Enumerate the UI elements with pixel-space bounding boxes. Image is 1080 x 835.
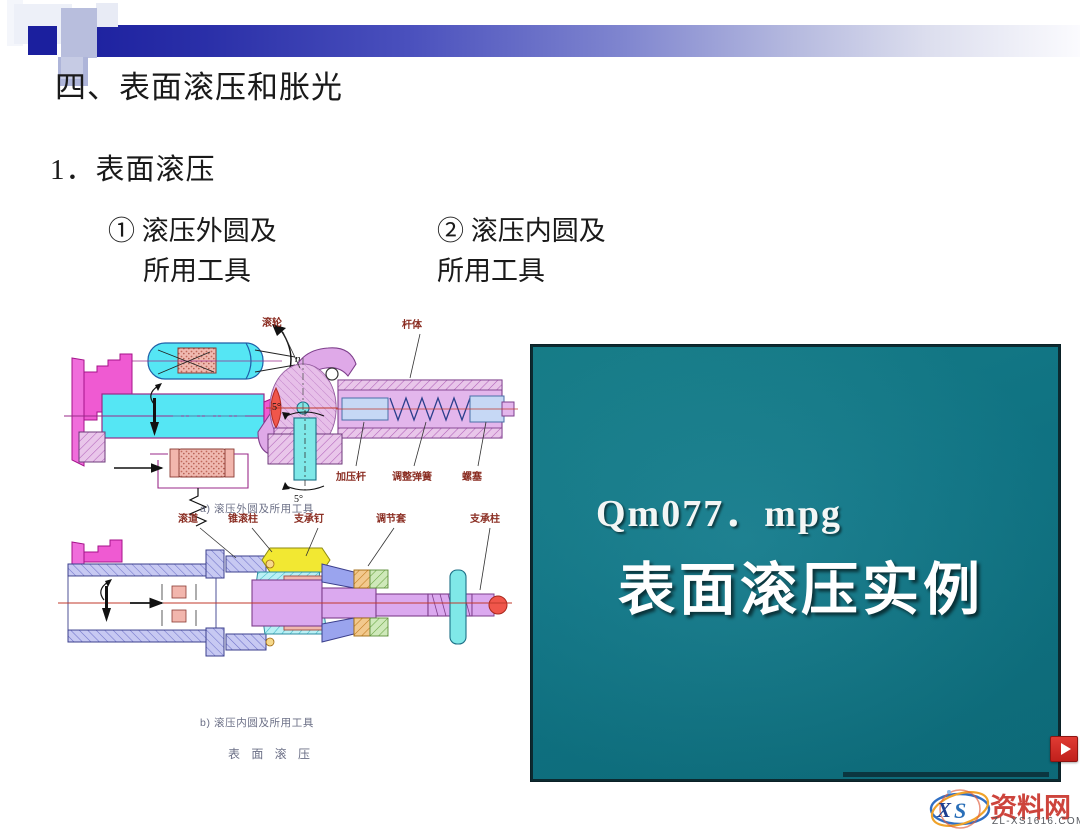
label-support-pin: 支承钉	[293, 512, 324, 525]
video-background: Qm077．mpg 表面滚压实例	[533, 347, 1058, 779]
label-angle-top: 5°	[272, 402, 281, 413]
bullet-item-2: ② 滚压内圆及 所用工具	[437, 211, 606, 291]
bullet-1-marker: ①	[108, 216, 135, 246]
label-raceway: 滚道	[178, 512, 198, 525]
play-button[interactable]	[1050, 736, 1078, 762]
bullet-1-line1: 滚压外圆及	[142, 216, 277, 246]
slide-title: 四、表面滚压和胀光	[55, 62, 343, 107]
svg-text:S: S	[954, 798, 966, 823]
slide-subtitle: 1．表面滚压	[50, 146, 216, 188]
label-adjust-spring: 调整弹簧	[392, 470, 432, 483]
bullet-2-line1: 滚压内圆及	[471, 216, 606, 246]
bullet-item-1: ① 滚压外圆及 所用工具	[108, 211, 277, 291]
video-caption: 表面滚压实例	[618, 544, 984, 626]
technical-figure-group: n	[50, 310, 520, 780]
video-bottom-bar	[843, 772, 1049, 777]
video-preview-panel[interactable]: Qm077．mpg 表面滚压实例	[531, 345, 1060, 781]
watermark-url: ZL-XS1616.COM	[992, 816, 1080, 827]
label-screw-plug: 螺塞	[462, 470, 483, 483]
play-triangle-icon	[1061, 743, 1071, 755]
bullet-2-line2: 所用工具	[437, 251, 606, 291]
header-decor-square-accent	[28, 26, 57, 55]
bullet-2-marker: ②	[437, 216, 464, 246]
watermark: X S 资料网 ZL-XS1616.COM	[928, 786, 1078, 832]
figure-b-caption: b) 滚压内圆及所用工具	[200, 716, 314, 729]
label-taper-roller: 锥滚柱	[228, 512, 258, 525]
label-adjust-sleeve: 调节套	[376, 512, 407, 525]
technical-diagram-svg: n	[50, 310, 520, 780]
figure-group-caption: 表 面 滚 压	[228, 746, 314, 761]
label-support-post: 支承柱	[469, 512, 500, 525]
svg-text:X: X	[936, 798, 952, 822]
label-press-rod: 加压杆	[335, 470, 366, 483]
label-roller: 滚轮	[262, 316, 282, 329]
bullet-1-line2: 所用工具	[108, 251, 277, 291]
header-decor-square-4	[61, 8, 97, 58]
watermark-logo-icon: X S	[928, 786, 992, 830]
video-filename: Qm077．mpg	[596, 482, 842, 537]
header-gradient-bar	[62, 25, 1080, 57]
header-decor-square-3	[96, 3, 118, 27]
figure-b-inner-roll-tool: 滚道 锥滚柱 支承钉 调节套 支承柱	[58, 512, 512, 656]
label-rod-body: 杆体	[402, 318, 423, 331]
